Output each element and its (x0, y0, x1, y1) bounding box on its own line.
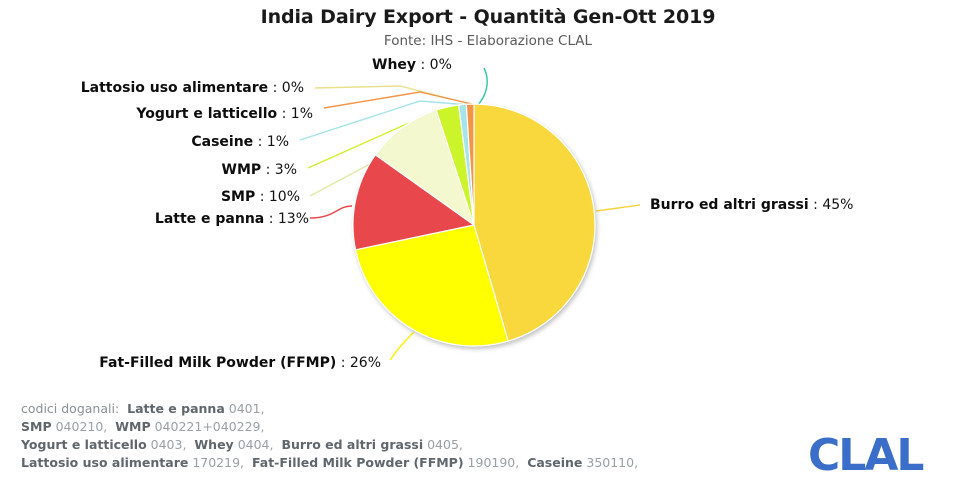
customs-code-number: 170219, (188, 455, 252, 470)
leader-line-burro (596, 205, 640, 211)
leader-line-ffmp (390, 332, 414, 360)
customs-code-product: WMP (115, 419, 150, 434)
clal-logo: CLAL (808, 432, 958, 480)
callout-smp: SMP : 10% (221, 190, 300, 204)
callout-lattosio-label: Lattosio uso alimentare (81, 80, 268, 96)
callout-ffmp: Fat-Filled Milk Powder (FFMP) : 26% (99, 356, 381, 370)
customs-code-product: Latte e panna (127, 401, 225, 416)
callout-burro: Burro ed altri grassi : 45% (650, 198, 853, 212)
callout-ffmp-sep: : (336, 355, 350, 371)
callout-lattosio: Lattosio uso alimentare : 0% (81, 81, 304, 95)
leader-line-whey (478, 68, 487, 105)
callout-burro-value: 45% (822, 197, 853, 213)
pie-chart-figure: India Dairy Export - Quantità Gen-Ott 20… (0, 0, 976, 492)
customs-code-product: Yogurt e latticello (21, 437, 147, 452)
callout-wmp-value: 3% (275, 162, 297, 178)
callout-yogurt: Yogurt e latticello : 1% (136, 107, 313, 121)
leader-line-latte (310, 206, 352, 218)
leader-line-lattosio (315, 86, 470, 104)
callout-whey: Whey : 0% (372, 58, 452, 72)
pie-slices-group (353, 104, 595, 346)
callout-yogurt-label: Yogurt e latticello (136, 106, 277, 122)
customs-code-number: 040210, (52, 419, 116, 434)
customs-code-number: 350110, (582, 455, 638, 470)
callout-smp-sep: : (255, 189, 269, 205)
callout-caseine-sep: : (253, 134, 267, 150)
callout-yogurt-sep: : (277, 106, 291, 122)
callout-smp-value: 10% (269, 189, 300, 205)
customs-code-number: 0403, (147, 437, 195, 452)
clal-logo-text: CLAL (808, 432, 923, 480)
customs-codes-intro: codici doganali: (21, 401, 127, 416)
customs-code-line: SMP 040210, WMP 040221+040229, (21, 418, 721, 436)
customs-code-product: Caseine (527, 455, 582, 470)
customs-code-product: Whey (194, 437, 233, 452)
callout-wmp-label: WMP (222, 162, 262, 178)
callout-burro-sep: : (809, 197, 823, 213)
customs-code-number: 190190, (464, 455, 528, 470)
callout-latte-e-panna: Latte e panna : 13% (155, 212, 309, 226)
callout-wmp: WMP : 3% (222, 163, 297, 177)
callout-burro-label: Burro ed altri grassi (650, 197, 809, 213)
callout-caseine: Caseine : 1% (191, 135, 289, 149)
callout-latte-label: Latte e panna (155, 211, 264, 227)
callout-whey-label: Whey (372, 57, 416, 73)
callout-whey-sep: : (416, 57, 430, 73)
callout-ffmp-label: Fat-Filled Milk Powder (FFMP) (99, 355, 336, 371)
callout-lattosio-sep: : (268, 80, 282, 96)
callout-latte-sep: : (264, 211, 278, 227)
customs-code-line: Lattosio uso alimentare 170219, Fat-Fill… (21, 454, 721, 472)
callout-caseine-label: Caseine (191, 134, 253, 150)
customs-code-number: 040221+040229, (151, 419, 265, 434)
customs-code-product: Lattosio uso alimentare (21, 455, 188, 470)
customs-code-line: codici doganali: Latte e panna 0401, (21, 400, 721, 418)
callout-caseine-value: 1% (267, 134, 289, 150)
leader-line-yogurt (324, 92, 472, 108)
callout-latte-value: 13% (278, 211, 309, 227)
callout-lattosio-value: 0% (282, 80, 304, 96)
customs-code-product: SMP (21, 419, 52, 434)
customs-code-number: 0404, (234, 437, 282, 452)
customs-code-line: Yogurt e latticello 0403, Whey 0404, Bur… (21, 436, 721, 454)
customs-code-number: 0405, (423, 437, 463, 452)
callout-yogurt-value: 1% (291, 106, 313, 122)
callout-whey-value: 0% (430, 57, 452, 73)
customs-codes-footer: codici doganali: Latte e panna 0401,SMP … (21, 400, 721, 472)
customs-code-product: Fat-Filled Milk Powder (FFMP) (252, 455, 464, 470)
callout-ffmp-value: 26% (350, 355, 381, 371)
callout-smp-label: SMP (221, 189, 255, 205)
customs-code-number: 0401, (225, 401, 265, 416)
callout-wmp-sep: : (261, 162, 275, 178)
customs-code-product: Burro ed altri grassi (281, 437, 423, 452)
